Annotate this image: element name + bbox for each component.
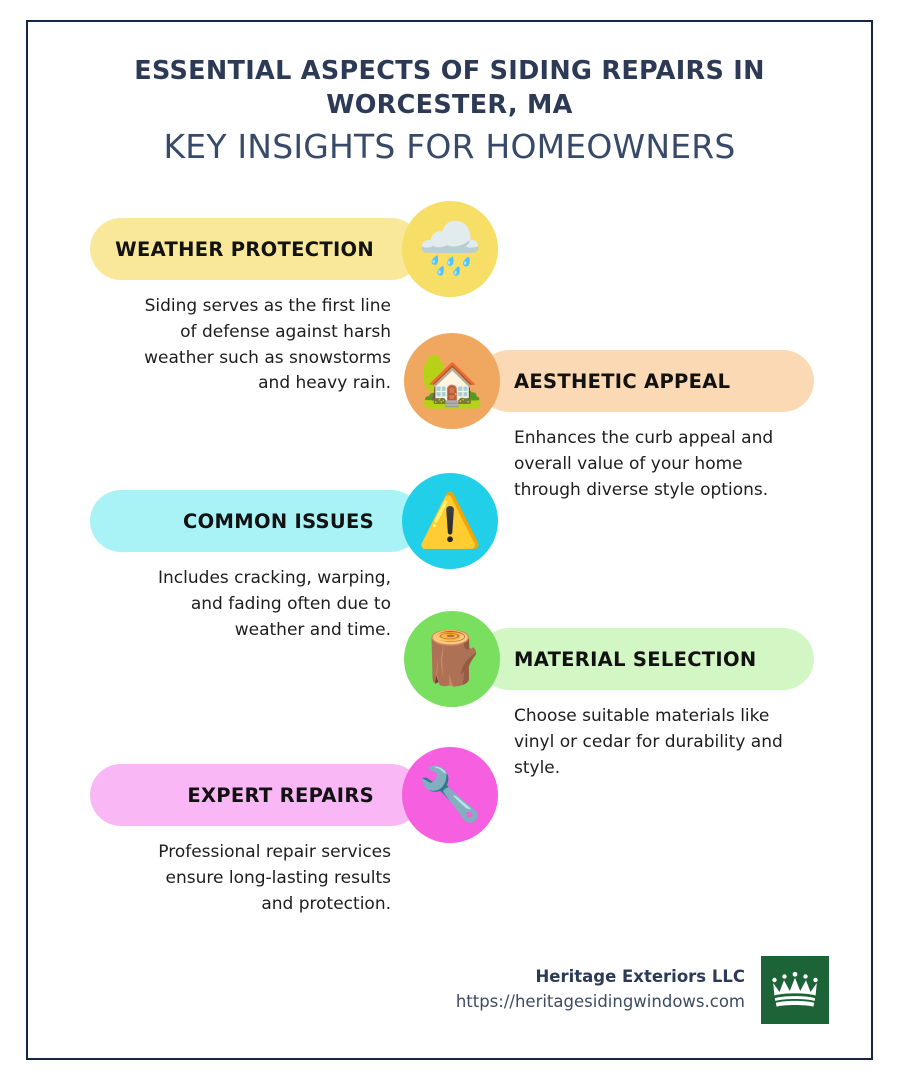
insight-label: WEATHER PROTECTION (115, 238, 374, 261)
page-title: ESSENTIAL ASPECTS OF SIDING REPAIRS IN W… (130, 54, 770, 122)
wrench-icon: 🔧 (402, 747, 498, 843)
company-website[interactable]: https://heritagesidingwindows.com (456, 990, 745, 1015)
poster-frame: ESSENTIAL ASPECTS OF SIDING REPAIRS IN W… (26, 20, 873, 1060)
insight-icon-glyph: 🏡 (420, 355, 485, 407)
insight-list: WEATHER PROTECTION🌧️Siding serves as the… (28, 218, 871, 924)
wood-log-icon: 🪵 (404, 611, 500, 707)
warning-triangle-icon: ⚠️ (402, 473, 498, 569)
insight-label: EXPERT REPAIRS (187, 784, 374, 807)
insight-label: COMMON ISSUES (183, 510, 374, 533)
insight-label: AESTHETIC APPEAL (514, 370, 730, 393)
poster-header: ESSENTIAL ASPECTS OF SIDING REPAIRS IN W… (28, 54, 871, 166)
poster-footer: Heritage Exteriors LLC https://heritages… (28, 956, 871, 1024)
crown-logo-icon (761, 956, 829, 1024)
insight-row: MATERIAL SELECTION🪵Choose suitable mater… (28, 628, 871, 764)
footer-text-block: Heritage Exteriors LLC https://heritages… (456, 965, 745, 1015)
insight-row: EXPERT REPAIRS🔧Professional repair servi… (28, 764, 871, 924)
insight-row: WEATHER PROTECTION🌧️Siding serves as the… (28, 218, 871, 350)
cloud-with-rain-icon: 🌧️ (402, 201, 498, 297)
insight-label: MATERIAL SELECTION (514, 648, 756, 671)
insight-pill[interactable]: MATERIAL SELECTION (478, 628, 814, 690)
insight-pill[interactable]: AESTHETIC APPEAL (478, 350, 814, 412)
insight-pill[interactable]: EXPERT REPAIRS (90, 764, 422, 826)
insight-icon-glyph: 🌧️ (418, 223, 483, 275)
insight-description: Professional repair services ensure long… (129, 840, 391, 917)
insight-icon-glyph: ⚠️ (418, 495, 483, 547)
house-with-garden-icon: 🏡 (404, 333, 500, 429)
insight-pill[interactable]: COMMON ISSUES (90, 490, 422, 552)
page-subtitle: KEY INSIGHTS FOR HOMEOWNERS (28, 128, 871, 166)
company-name: Heritage Exteriors LLC (456, 965, 745, 990)
insight-row: COMMON ISSUES⚠️Includes cracking, warpin… (28, 490, 871, 628)
insight-pill[interactable]: WEATHER PROTECTION (90, 218, 422, 280)
infographic-poster: ESSENTIAL ASPECTS OF SIDING REPAIRS IN W… (0, 0, 900, 1080)
insight-row: AESTHETIC APPEAL🏡Enhances the curb appea… (28, 350, 871, 490)
insight-icon-glyph: 🪵 (420, 633, 485, 685)
insight-icon-glyph: 🔧 (418, 769, 483, 821)
